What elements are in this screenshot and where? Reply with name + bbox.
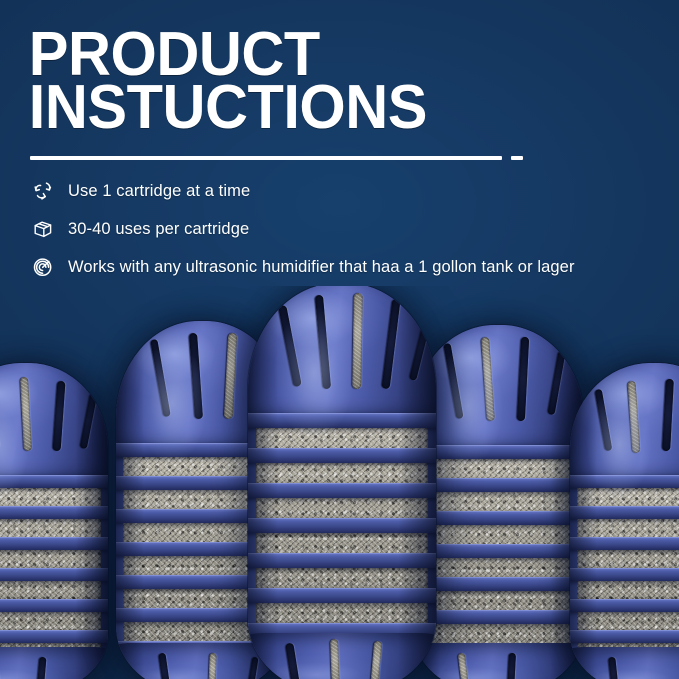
cartridge-5 — [570, 363, 679, 679]
instruction-list: Use 1 cartridge at a time 30-40 uses per… — [28, 172, 668, 286]
list-item: 30-40 uses per cartridge — [28, 210, 668, 248]
cartridge-4 — [412, 325, 584, 679]
open-box-icon — [28, 215, 58, 243]
title-line-2: INSTUCTIONS — [29, 81, 652, 134]
list-item: Use 1 cartridge at a time — [28, 172, 668, 210]
cartridge-3 — [248, 286, 436, 679]
product-photo — [0, 286, 679, 679]
list-item: Works with any ultrasonic humidifier tha… — [28, 248, 668, 286]
list-item-label: Use 1 cartridge at a time — [68, 182, 250, 201]
moisture-swirl-icon — [28, 253, 58, 281]
page-title: PRODUCT INSTUCTIONS — [0, 0, 652, 135]
divider-dash — [511, 156, 523, 160]
product-instructions-image: PRODUCT INSTUCTIONS Use 1 cartridge at a… — [0, 0, 679, 679]
list-item-label: 30-40 uses per cartridge — [68, 220, 249, 239]
cartridge-1 — [0, 363, 108, 679]
divider-line — [30, 156, 502, 160]
list-item-label: Works with any ultrasonic humidifier tha… — [68, 258, 575, 277]
recycle-arrows-icon — [28, 177, 58, 205]
header-block: PRODUCT INSTUCTIONS — [0, 0, 679, 135]
divider — [30, 155, 650, 161]
